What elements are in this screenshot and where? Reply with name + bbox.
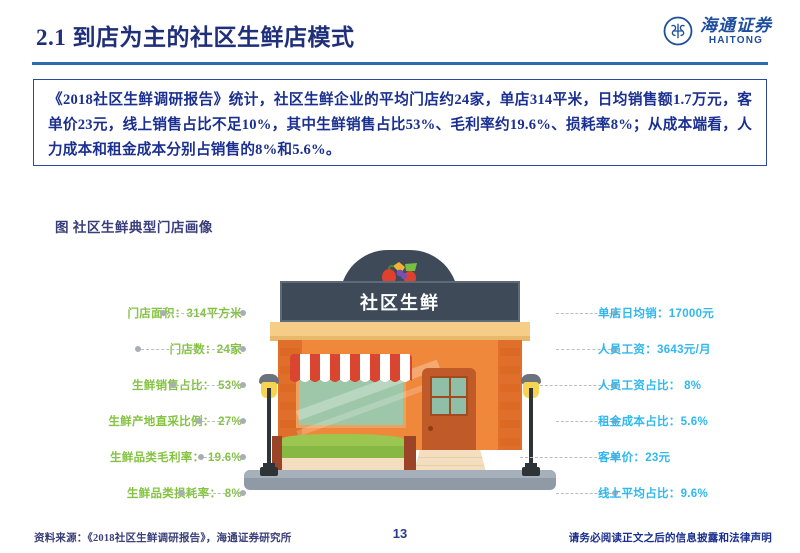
summary-callout-box: 《2018社区生鲜调研报告》统计，社区生鲜企业的平均门店约24家，单店314平米… — [33, 79, 767, 166]
connector-dash — [202, 421, 240, 422]
metric-right-5: 线上平均占比：9.6% — [598, 484, 708, 502]
connector-left-1 — [135, 340, 246, 358]
footer-disclaimer: 请务必阅读正文之后的信息披露和法律声明 — [569, 530, 772, 545]
connector-left-0 — [160, 304, 246, 322]
slide-header: 2.1 到店为主的社区生鲜店模式 海通证券 HAITONG — [0, 0, 800, 64]
store-ground-top — [244, 470, 556, 478]
connector-left-2 — [170, 376, 246, 394]
logo-chinese-text: 海通证券 — [700, 17, 772, 34]
metric-right-label-5: 线上平均占比：9.6% — [598, 485, 708, 501]
metric-right-4: 客单价：23元 — [598, 448, 670, 466]
metric-right-1: 人员工资：3643元/月 — [598, 340, 711, 358]
metric-right-label-0: 单店日均销：17000元 — [598, 305, 714, 321]
page-title: 2.1 到店为主的社区生鲜店模式 — [36, 18, 355, 52]
street-lamp-left-icon — [258, 368, 280, 476]
figure-caption: 图 社区生鲜典型门店画像 — [55, 216, 213, 236]
metric-right-0: 单店日均销：17000元 — [598, 304, 714, 322]
metric-right-label-1: 人员工资：3643元/月 — [598, 341, 711, 357]
brand-logo: 海通证券 HAITONG — [663, 16, 772, 46]
haitong-emblem-icon — [663, 16, 693, 46]
planter-wall-right — [404, 436, 416, 472]
store-steps — [414, 450, 486, 472]
connector-dash — [204, 457, 240, 458]
connector-left-3 — [196, 412, 246, 430]
store-brick-right — [498, 340, 522, 450]
metric-right-2: 人员工资占比： 8% — [598, 376, 701, 394]
logo-english-text: HAITONG — [709, 36, 763, 46]
store-awning-scallop — [290, 377, 412, 387]
slide-footer: 资料来源：《2018社区生鲜调研报告》，海通证券研究所 13 请务必阅读正文之后… — [0, 523, 800, 553]
store-hedge-top — [282, 434, 404, 446]
store-illustration: 社区生鲜 — [244, 250, 556, 512]
store-profile-diagram: 门店面积：314平方米 门店数：24家 生鲜销售占比： 53% 生鲜产地直采比例… — [0, 250, 800, 520]
connector-dash — [176, 385, 240, 386]
metric-right-3: 租金成本占比：5.6% — [598, 412, 708, 430]
connector-dash — [141, 349, 240, 350]
connector-left-4 — [198, 448, 246, 466]
connector-left-5 — [178, 484, 246, 502]
summary-paragraph: 《2018社区生鲜调研报告》统计，社区生鲜企业的平均门店约24家，单店314平米… — [48, 88, 752, 163]
store-door-window — [430, 376, 468, 416]
store-sign-board: 社区生鲜 — [280, 281, 520, 322]
metric-right-label-4: 客单价：23元 — [598, 449, 670, 465]
connector-dash — [166, 313, 240, 314]
metric-right-label-3: 租金成本占比：5.6% — [598, 413, 708, 429]
metric-right-label-2: 人员工资占比： 8% — [598, 377, 701, 393]
connector-dash — [184, 493, 240, 494]
header-divider — [32, 62, 768, 65]
store-sign-text: 社区生鲜 — [282, 283, 518, 320]
door-knob-icon — [428, 426, 433, 431]
